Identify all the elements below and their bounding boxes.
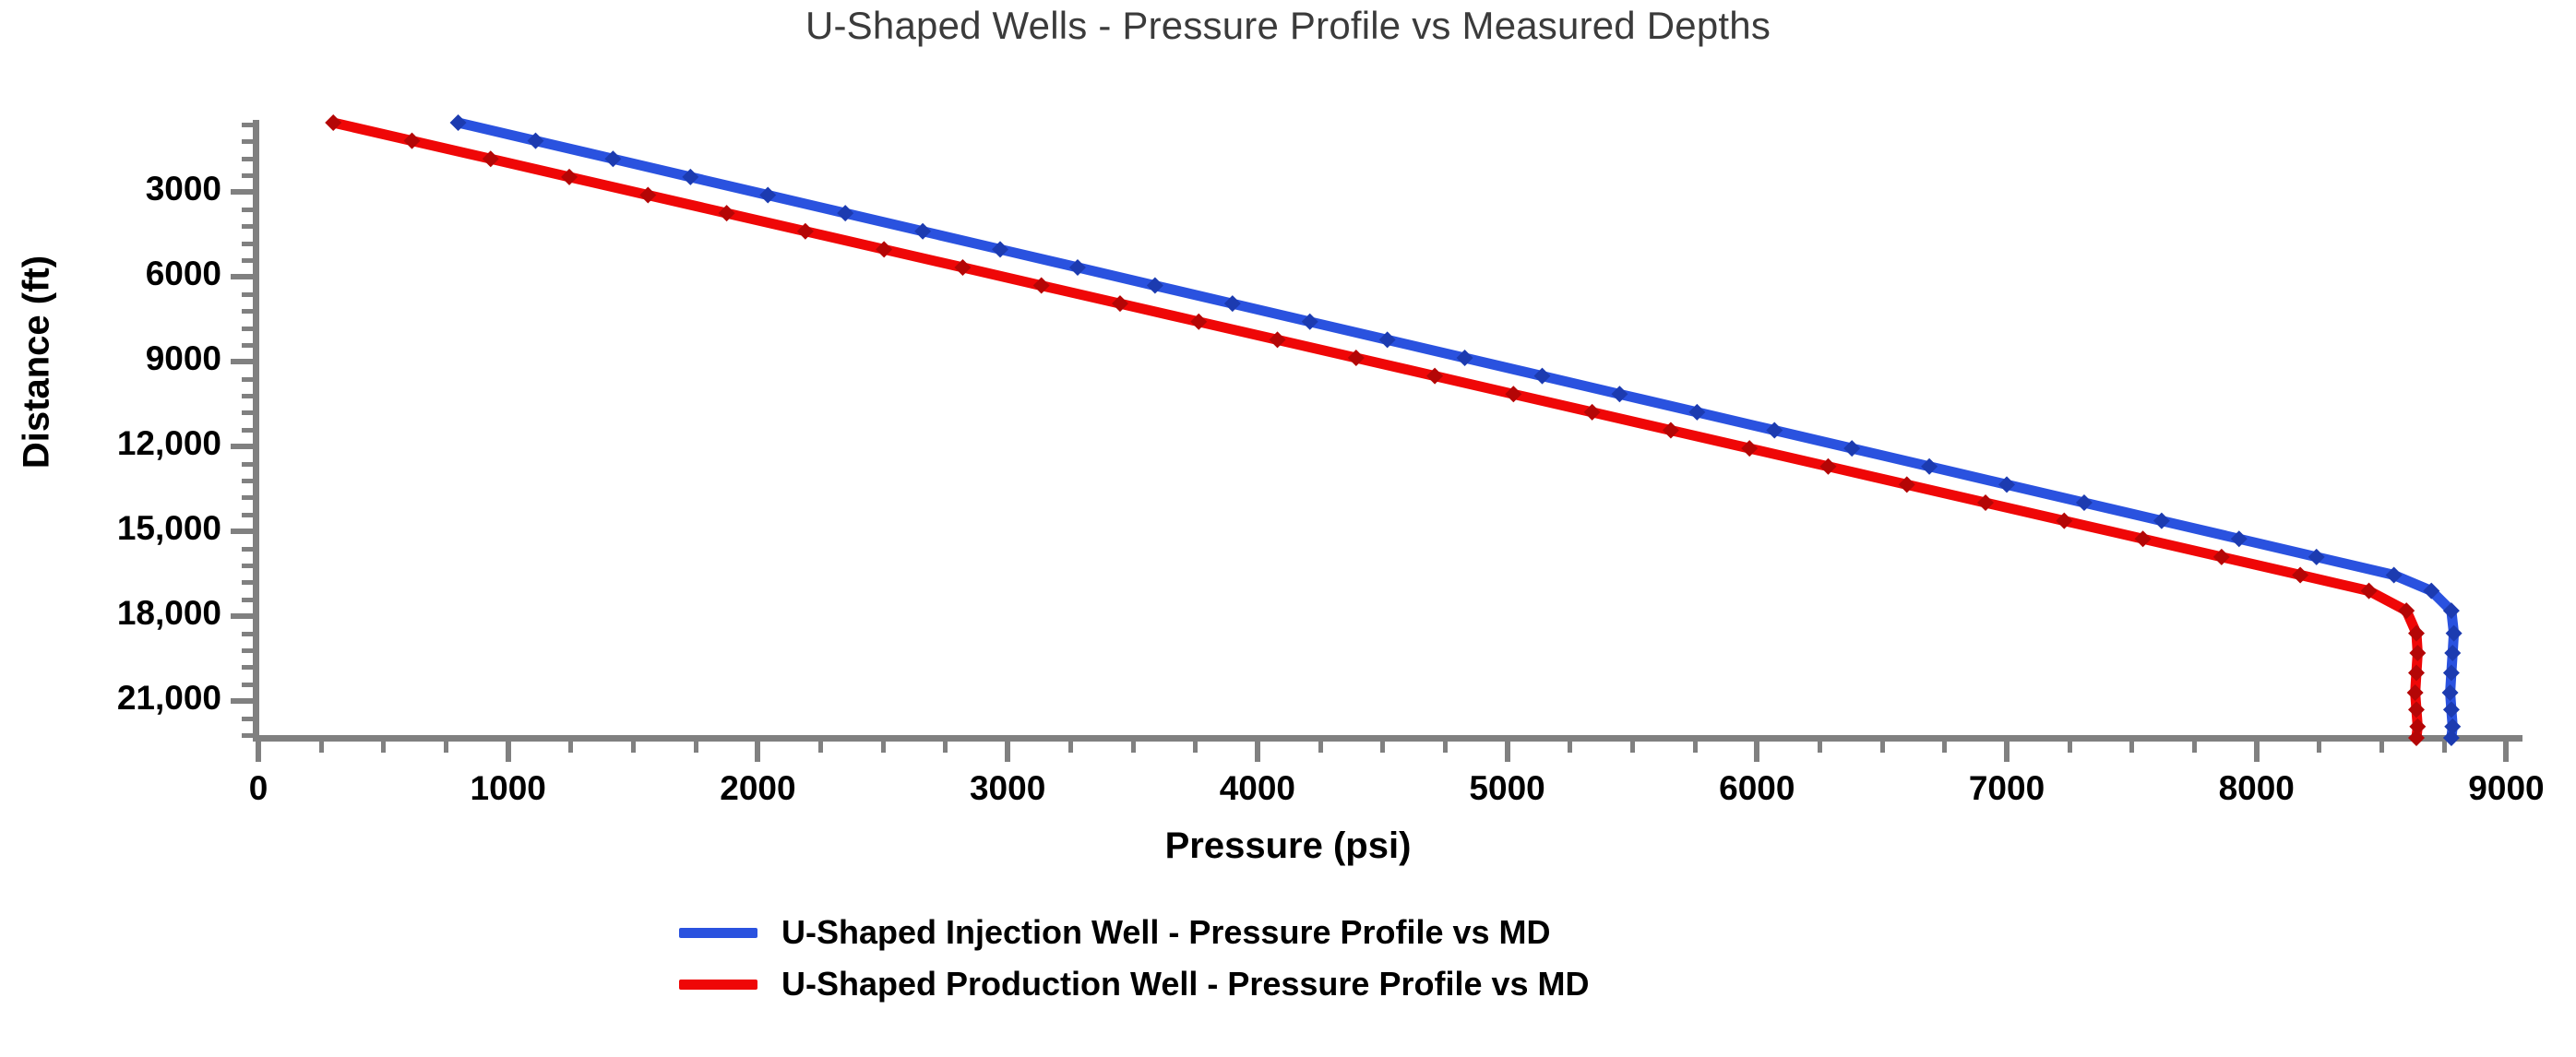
data-point-marker: [2446, 625, 2463, 642]
data-point-marker: [2408, 701, 2425, 718]
legend-label: U-Shaped Injection Well - Pressure Profi…: [781, 913, 1551, 952]
line-swatch-red-icon: [679, 980, 757, 990]
legend-item[interactable]: U-Shaped Injection Well - Pressure Profi…: [679, 913, 1897, 952]
data-point-marker: [2443, 701, 2460, 718]
line-swatch-blue-icon: [679, 928, 757, 938]
data-point-marker: [2408, 664, 2425, 681]
chart-canvas: U-Shaped Wells - Pressure Profile vs Mea…: [0, 0, 2576, 1057]
data-point-marker: [2409, 645, 2426, 661]
series-injection-well: [450, 114, 2463, 746]
legend-item[interactable]: U-Shaped Production Well - Pressure Prof…: [679, 965, 1897, 1004]
series-line: [459, 123, 2454, 738]
data-series-layer: [0, 0, 2576, 1057]
data-point-marker: [2408, 730, 2425, 746]
data-point-marker: [2407, 684, 2424, 701]
data-point-marker: [2442, 684, 2459, 701]
data-point-marker: [2443, 730, 2460, 746]
legend-label: U-Shaped Production Well - Pressure Prof…: [781, 965, 1590, 1004]
series-line: [333, 123, 2417, 738]
series-production-well: [325, 114, 2426, 746]
chart-legend: U-Shaped Injection Well - Pressure Profi…: [0, 913, 2576, 1004]
data-point-marker: [2444, 645, 2461, 661]
data-point-marker: [2443, 664, 2460, 681]
